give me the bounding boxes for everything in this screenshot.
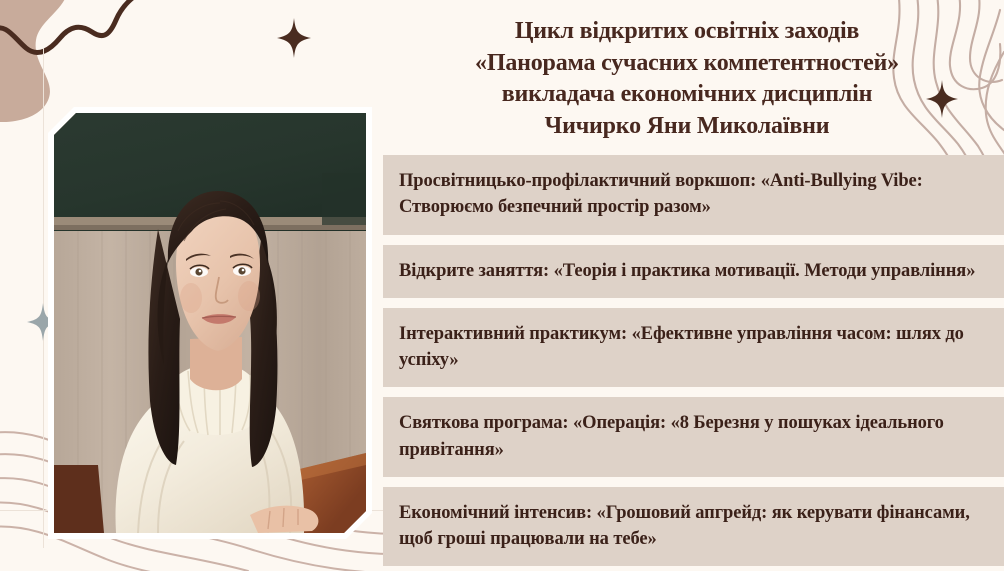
event-item[interactable]: Інтерактивний практикум: «Ефективне упра… [383,308,1004,388]
event-item[interactable]: Економічний інтенсив: «Грошовий апгрейд:… [383,487,1004,567]
speaker-photo [54,113,366,533]
four-point-star-icon [277,18,311,58]
title-line-1: Цикл відкритих освітніх заходів [380,16,994,48]
event-item[interactable]: Святкова програма: «Операція: «8 Березня… [383,397,1004,477]
speaker-portrait-illustration [54,113,366,533]
event-item[interactable]: Просвітницько-профілактичний воркшоп: «A… [383,155,1004,235]
squiggle-decoration-icon [0,0,172,94]
speaker-photo-frame [48,107,372,539]
frame-guide-line [43,48,44,548]
presentation-slide: Цикл відкритих освітніх заходів «Панорам… [0,0,1004,571]
title-line-4: Чичирко Яни Миколаївни [380,111,994,143]
event-item[interactable]: Відкрите заняття: «Теорія і практика мот… [383,245,1004,298]
blob-decoration-icon [0,0,150,122]
event-list: Просвітницько-профілактичний воркшоп: «A… [383,155,1004,571]
page-title: Цикл відкритих освітніх заходів «Панорам… [380,16,994,143]
title-line-3: викладача економічних дисциплін [380,79,994,111]
title-line-2: «Панорама сучасних компетентностей» [380,48,994,80]
